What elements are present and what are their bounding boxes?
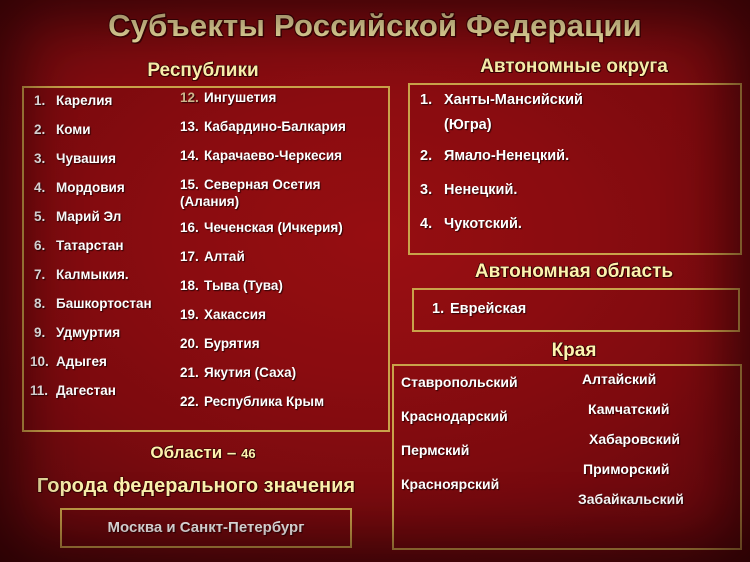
list-item[interactable]: 4.Мордовия bbox=[34, 180, 125, 196]
list-item[interactable]: 13.Кабардино-Балкария bbox=[180, 119, 346, 135]
item-label: Дагестан bbox=[56, 383, 116, 398]
item-label: Тыва (Тува) bbox=[204, 278, 283, 293]
item-number: 4. bbox=[420, 216, 444, 233]
item-label: Марий Эл bbox=[56, 209, 121, 224]
item-number: 8. bbox=[34, 296, 56, 312]
item-label: Адыгея bbox=[56, 354, 107, 369]
item-number: 19. bbox=[180, 307, 204, 323]
item-number: 3. bbox=[34, 151, 56, 167]
list-item[interactable]: 11.Дагестан bbox=[30, 383, 116, 399]
list-item-cont[interactable]: (Югра) bbox=[444, 117, 492, 134]
list-item[interactable]: 20.Бурятия bbox=[180, 336, 260, 352]
item-number: 10. bbox=[30, 354, 56, 370]
item-number: 16. bbox=[180, 220, 204, 236]
item-label: (Алания) bbox=[180, 194, 239, 209]
federal-cities-value[interactable]: Москва и Санкт-Петербург bbox=[60, 519, 352, 536]
list-item-cont[interactable]: (Алания) bbox=[180, 194, 239, 210]
list-item[interactable]: Красноярский bbox=[401, 476, 499, 492]
list-item[interactable]: 16.Чеченская (Ичкерия) bbox=[180, 220, 343, 236]
item-label: (Югра) bbox=[444, 117, 492, 133]
list-item[interactable]: 3.Чувашия bbox=[34, 151, 116, 167]
list-item[interactable]: Краснодарский bbox=[401, 408, 508, 424]
list-item[interactable]: 21.Якутия (Саха) bbox=[180, 365, 296, 381]
item-label: Еврейская bbox=[450, 301, 526, 317]
item-number: 7. bbox=[34, 267, 56, 283]
list-item[interactable]: Ставропольский bbox=[401, 374, 518, 390]
list-item[interactable]: 4.Чукотский. bbox=[420, 216, 522, 233]
slide-root: Субъекты Российской Федерации Республики… bbox=[0, 0, 750, 562]
list-item[interactable]: 14.Карачаево-Черкесия bbox=[180, 148, 342, 164]
item-number: 2. bbox=[34, 122, 56, 138]
item-number: 4. bbox=[34, 180, 56, 196]
item-label: Башкортостан bbox=[56, 296, 152, 311]
page-title: Субъекты Российской Федерации bbox=[0, 8, 750, 44]
list-item[interactable]: 5.Марий Эл bbox=[34, 209, 121, 225]
heading-federal-cities: Города федерального значения bbox=[0, 475, 392, 498]
item-label: Калмыкия. bbox=[56, 267, 129, 282]
item-label: Чукотский. bbox=[444, 216, 522, 232]
item-label: Чувашия bbox=[56, 151, 116, 166]
item-number: 5. bbox=[34, 209, 56, 225]
item-label: Карачаево-Черкесия bbox=[204, 148, 342, 163]
list-item[interactable]: 3.Ненецкий. bbox=[420, 182, 517, 199]
list-item[interactable]: 9.Удмуртия bbox=[34, 325, 120, 341]
item-number: 11. bbox=[30, 383, 56, 399]
item-number: 6. bbox=[34, 238, 56, 254]
list-item[interactable]: 1.Еврейская bbox=[432, 301, 526, 318]
item-number: 18. bbox=[180, 278, 204, 294]
item-number: 2. bbox=[420, 148, 444, 165]
item-number: 21. bbox=[180, 365, 204, 381]
item-number: 1. bbox=[420, 92, 444, 109]
list-item[interactable]: 8.Башкортостан bbox=[34, 296, 152, 312]
list-item[interactable]: 17.Алтай bbox=[180, 249, 245, 265]
item-number: 22. bbox=[180, 394, 204, 410]
item-number: 17. bbox=[180, 249, 204, 265]
item-number: 13. bbox=[180, 119, 204, 135]
list-item[interactable]: 15.Северная Осетия bbox=[180, 177, 321, 193]
item-label: Якутия (Саха) bbox=[204, 365, 296, 380]
list-item[interactable]: 1.Карелия bbox=[34, 93, 112, 109]
list-item[interactable]: Камчатский bbox=[588, 401, 669, 417]
heading-republics: Республики bbox=[16, 60, 390, 82]
item-label: Ямало-Ненецкий. bbox=[444, 148, 569, 164]
list-item[interactable]: 22.Республика Крым bbox=[180, 394, 324, 410]
item-number: 20. bbox=[180, 336, 204, 352]
item-number: 1. bbox=[34, 93, 56, 109]
item-label: Бурятия bbox=[204, 336, 260, 351]
item-label: Ингушетия bbox=[204, 90, 276, 105]
heading-krais: Края bbox=[404, 340, 744, 362]
heading-oblasts: Области – 46 bbox=[16, 443, 390, 463]
item-label: Чеченская (Ичкерия) bbox=[204, 220, 343, 235]
item-label: Коми bbox=[56, 122, 91, 137]
list-item[interactable]: 18.Тыва (Тува) bbox=[180, 278, 283, 294]
list-item[interactable]: Пермский bbox=[401, 442, 469, 458]
list-item[interactable]: 12.Ингушетия bbox=[180, 90, 276, 106]
item-label: Ханты-Мансийский bbox=[444, 92, 583, 108]
list-item[interactable]: Забайкальский bbox=[578, 491, 684, 507]
oblasts-label: Области – bbox=[150, 443, 236, 462]
item-label: Ненецкий. bbox=[444, 182, 517, 198]
item-label: Удмуртия bbox=[56, 325, 120, 340]
item-number: 1. bbox=[432, 301, 450, 318]
item-number: 12. bbox=[180, 90, 204, 106]
item-number: 9. bbox=[34, 325, 56, 341]
item-label: Хакассия bbox=[204, 307, 266, 322]
list-item[interactable]: Хабаровский bbox=[589, 431, 680, 447]
item-label: Мордовия bbox=[56, 180, 125, 195]
list-item[interactable]: 6.Татарстан bbox=[34, 238, 124, 254]
list-item[interactable]: 7.Калмыкия. bbox=[34, 267, 129, 283]
item-number: 14. bbox=[180, 148, 204, 164]
list-item[interactable]: Приморский bbox=[583, 461, 670, 477]
list-item[interactable]: 19.Хакассия bbox=[180, 307, 266, 323]
list-item[interactable]: 1.Ханты-Мансийский bbox=[420, 92, 583, 109]
item-label: Алтай bbox=[204, 249, 245, 264]
list-item[interactable]: 2.Коми bbox=[34, 122, 91, 138]
item-number: 3. bbox=[420, 182, 444, 199]
item-number: 15. bbox=[180, 177, 204, 193]
item-label: Республика Крым bbox=[204, 394, 324, 409]
item-label: Татарстан bbox=[56, 238, 124, 253]
oblasts-count: 46 bbox=[241, 446, 255, 461]
item-label: Кабардино-Балкария bbox=[204, 119, 346, 134]
list-item[interactable]: 2.Ямало-Ненецкий. bbox=[420, 148, 569, 165]
list-item[interactable]: Алтайский bbox=[582, 371, 656, 387]
list-item[interactable]: 10.Адыгея bbox=[30, 354, 107, 370]
item-label: Карелия bbox=[56, 93, 112, 108]
item-label: Северная Осетия bbox=[204, 177, 321, 192]
heading-autonomous-oblast: Автономная область bbox=[404, 261, 744, 283]
heading-autonomous-okrugs: Автономные округа bbox=[404, 56, 744, 78]
